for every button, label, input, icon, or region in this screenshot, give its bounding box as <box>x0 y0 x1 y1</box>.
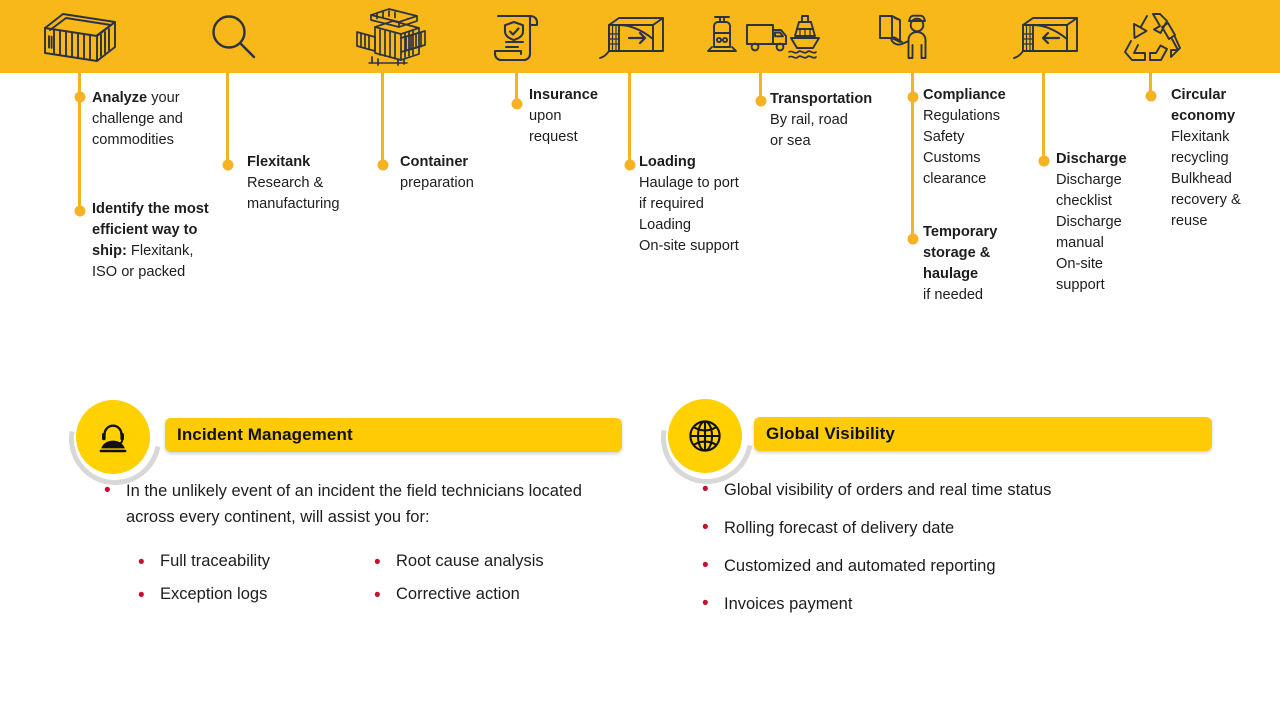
list-item-text: In the unlikely event of an incident the… <box>126 478 614 530</box>
list-item-text: Corrective action <box>396 583 520 605</box>
list-item-text: Exception logs <box>160 583 267 605</box>
step-title: Temporary storage & haulage <box>923 224 997 282</box>
step-title: Container <box>400 154 468 170</box>
list-item: • Rolling forecast of delivery date <box>702 515 1222 541</box>
card-title: Global Visibility <box>754 424 895 444</box>
step-line: Research & <box>247 173 377 194</box>
step-title: Insurance <box>529 87 598 103</box>
card-bullet-list: • In the unlikely event of an incident t… <box>104 478 614 530</box>
step-compliance: Compliance Regulations Safety Customs cl… <box>923 85 1043 190</box>
step-line: if required <box>639 194 774 215</box>
flexitank-installation-icon <box>348 0 432 73</box>
connector-dot-analyze <box>75 92 86 103</box>
step-transportation: Transportation By rail, road or sea <box>770 89 905 152</box>
step-line: preparation <box>400 173 520 194</box>
card-title-banner: Incident Management <box>165 418 622 452</box>
connector-dot-circular-economy <box>1146 91 1157 102</box>
connector-dot-temporary-storage <box>908 234 919 245</box>
step-temporary-storage: Temporary storage & haulage if needed <box>923 222 1033 306</box>
container-loading-arrow-right-icon <box>592 0 670 73</box>
list-item-text: Full traceability <box>160 550 270 572</box>
step-title: Loading <box>639 154 696 170</box>
sub-column-right: • Root cause analysis • Corrective actio… <box>374 550 610 616</box>
sub-column-left: • Full traceability • Exception logs <box>138 550 374 616</box>
list-item: • Global visibility of orders and real t… <box>702 477 1222 503</box>
step-circular-economy: Circular economy Flexitank recycling Bul… <box>1171 85 1276 232</box>
list-item: • Exception logs <box>138 583 374 605</box>
container-discharge-arrow-left-icon <box>1006 0 1084 73</box>
bullet-dot-icon: • <box>374 550 396 572</box>
connector-dot-insurance <box>512 99 523 110</box>
bullet-dot-icon: • <box>702 515 724 537</box>
step-line: Regulations <box>923 106 1043 127</box>
list-item: • In the unlikely event of an incident t… <box>104 478 614 530</box>
card-title: Incident Management <box>165 425 353 445</box>
step-line: On-site support <box>639 236 774 257</box>
step-line: manufacturing <box>247 194 377 215</box>
step-line: Flexitank <box>1171 127 1276 148</box>
step-line: ISO or packed <box>92 262 232 283</box>
step-container: Container preparation <box>400 152 520 194</box>
list-item-text: Root cause analysis <box>396 550 544 572</box>
step-line: reuse <box>1171 211 1276 232</box>
step-line: checklist <box>1056 191 1151 212</box>
connector-line-container <box>381 73 384 166</box>
step-line: Bulkhead <box>1171 169 1276 190</box>
step-line: Safety <box>923 127 1043 148</box>
step-line: Discharge <box>1056 212 1151 233</box>
bullet-dot-icon: • <box>138 583 160 605</box>
globe-icon <box>668 399 742 473</box>
step-line: if needed <box>923 285 1033 306</box>
list-item-text: Invoices payment <box>724 591 852 617</box>
bullet-dot-icon: • <box>138 550 160 572</box>
step-identify: Identify the most efficient way to ship:… <box>92 199 232 283</box>
connector-dot-transportation <box>756 96 767 107</box>
step-line: support <box>1056 275 1151 296</box>
step-line: On-site <box>1056 254 1151 275</box>
step-line: challenge and <box>92 109 222 130</box>
step-line: clearance <box>923 169 1043 190</box>
bullet-dot-icon: • <box>702 591 724 613</box>
step-line: commodities <box>92 130 222 151</box>
list-item-text: Customized and automated reporting <box>724 553 996 579</box>
step-insurance: Insurance upon request <box>529 85 639 148</box>
shipping-container-icon <box>38 0 122 73</box>
step-analyze: Analyze your challenge and commodities <box>92 88 222 151</box>
card-sub-bullets: • Full traceability • Exception logs • R… <box>138 550 610 616</box>
list-item: • Full traceability <box>138 550 374 572</box>
card-bullet-list: • Global visibility of orders and real t… <box>702 477 1222 617</box>
bullet-dot-icon: • <box>702 553 724 575</box>
connector-dot-flexitank <box>223 160 234 171</box>
step-line: or sea <box>770 131 905 152</box>
recycling-icon <box>1118 0 1188 73</box>
rail-road-sea-transport-icon <box>700 0 824 73</box>
list-item-text: Rolling forecast of delivery date <box>724 515 954 541</box>
list-item-text: Global visibility of orders and real tim… <box>724 477 1051 503</box>
list-item: • Root cause analysis <box>374 550 610 572</box>
step-line: Customs <box>923 148 1043 169</box>
connector-dot-loading <box>625 160 636 171</box>
step-loading: Loading Haulage to port if required Load… <box>639 152 774 257</box>
headset-support-agent-icon <box>76 400 150 474</box>
step-title: Transportation <box>770 91 872 107</box>
list-item: • Corrective action <box>374 583 610 605</box>
step-flexitank: Flexitank Research & manufacturing <box>247 152 377 215</box>
list-item: • Customized and automated reporting <box>702 553 1222 579</box>
step-title-inline: Flexitank, <box>127 243 194 259</box>
step-title: Circular economy <box>1171 87 1235 124</box>
step-line: Loading <box>639 215 774 236</box>
step-line: recycling <box>1171 148 1276 169</box>
list-item: • Invoices payment <box>702 591 1222 617</box>
step-discharge: Discharge Discharge checklist Discharge … <box>1056 149 1151 296</box>
step-line: By rail, road <box>770 110 905 131</box>
step-line: upon <box>529 106 639 127</box>
step-line: Discharge <box>1056 170 1151 191</box>
step-line: recovery & <box>1171 190 1276 211</box>
step-line: Haulage to port <box>639 173 774 194</box>
step-title: Compliance <box>923 87 1006 103</box>
step-title: Analyze <box>92 90 147 106</box>
step-line: manual <box>1056 233 1151 254</box>
compliance-officer-icon <box>868 0 940 73</box>
step-title: Discharge <box>1056 151 1127 167</box>
connector-dot-identify <box>75 206 86 217</box>
step-line: request <box>529 127 639 148</box>
connector-dot-compliance <box>908 92 919 103</box>
card-title-banner: Global Visibility <box>754 417 1212 451</box>
connector-line-flexitank <box>226 73 229 166</box>
insurance-certificate-icon <box>484 0 550 73</box>
bullet-dot-icon: • <box>374 583 396 605</box>
process-header-bar <box>0 0 1280 73</box>
connector-dot-container <box>378 160 389 171</box>
magnifier-search-icon <box>200 0 268 73</box>
step-title: Flexitank <box>247 154 310 170</box>
step-title-inline: your <box>147 90 179 106</box>
